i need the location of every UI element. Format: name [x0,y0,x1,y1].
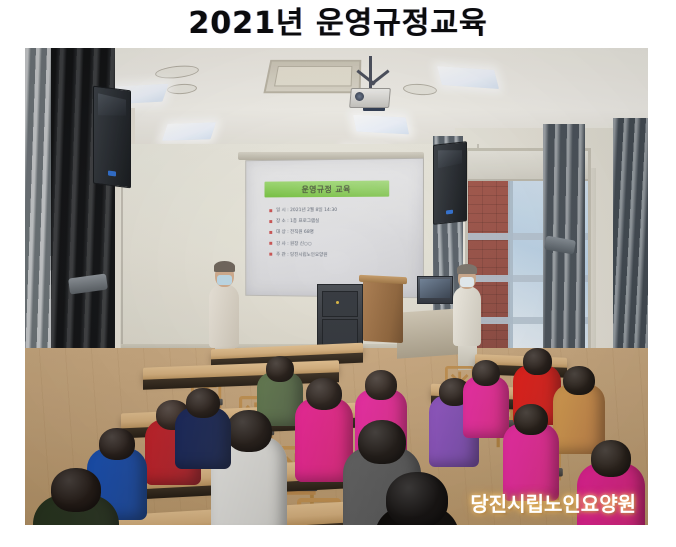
watermark-text: 당진시립노인요양원 [470,488,636,517]
av-rack-panel [322,319,358,345]
bullet-icon [269,231,272,234]
attendee-head [514,404,548,435]
presenter-hair [457,264,477,274]
title-bar: 2021년 운영규정교육 [0,6,676,42]
attendee-head [51,468,101,512]
attendee-head [306,378,342,410]
bullet-icon [269,242,272,245]
speaker-horn-icon [98,93,126,118]
attendee-head [563,366,595,395]
attendee-head [266,356,294,382]
slide-title-text: 운영규정 교육 [302,183,351,194]
poster-canvas: 2021년 운영규정교육 [0,0,676,547]
event-photo: 운영규정 교육 일 시 : 2021년 2월 8일 14:30 장 소 : 1층… [25,48,648,525]
bullet-icon [269,220,272,223]
speaker-led-icon [446,210,453,215]
attendee-6 [175,388,231,480]
air-conditioner-vent-inner [274,66,352,86]
av-status-led-icon [336,301,339,304]
attendee-head [358,420,406,464]
attendee-head [186,388,220,418]
bullet-icon [269,253,272,256]
ceiling-light [162,122,216,141]
wall-speaker-left [93,86,131,189]
computer-monitor [417,276,453,304]
curtain-right-middle [543,124,585,386]
speaker-horn-icon [438,148,462,169]
bullet-icon [269,209,272,212]
projector-lens-icon [355,92,364,101]
attendee-head [523,348,552,375]
slide-bullet-item: 대 상 : 전직원 68명 [269,229,410,235]
attendee-3 [33,468,119,525]
slide-bullet-text: 강 사 : 원장 신○○ [276,240,312,246]
attendee-head [386,472,448,525]
slide-bullet-item: 일 시 : 2021년 2월 8일 14:30 [269,207,410,214]
av-equipment-rack [317,284,363,352]
slide-title-bar: 운영규정 교육 [264,180,389,197]
slide-bullet-text: 대 상 : 전직원 68명 [276,229,314,235]
projector-rod [369,56,372,90]
attendee-head [591,440,631,477]
presenter-jacket [209,284,239,348]
curtain-left-sheer [25,48,51,368]
presenter-vest [453,286,481,346]
slide-bullet-text: 주 관 : 당진시립노인요양원 [276,251,327,257]
slide-bullet-text: 일 시 : 2021년 2월 8일 14:30 [276,207,337,213]
attendee-head [472,360,500,386]
av-rack-panel [322,291,358,317]
slide-bullet-list: 일 시 : 2021년 2월 8일 14:30 장 소 : 1층 프로그램실 대… [269,207,410,264]
face-mask-icon [460,277,474,287]
wall-speaker-right [433,141,467,225]
slide-bullet-item: 주 관 : 당진시립노인요양원 [269,251,410,258]
attendee-head [365,370,397,400]
monitor-screen [420,279,450,298]
attendee-head [226,410,272,452]
slide-bullet-text: 장 소 : 1층 프로그램실 [276,218,319,224]
page-title: 2021년 운영규정교육 [188,6,487,42]
air-conditioner-vent [263,60,361,93]
speaker-led-icon [108,171,116,177]
attendee-head [99,428,135,460]
wooden-podium [363,279,403,343]
slide-bullet-item: 장 소 : 1층 프로그램실 [269,218,410,224]
face-mask-icon [217,275,232,285]
ceiling-light [353,115,409,135]
presenter-hair [214,261,235,272]
window-mullion [508,179,513,351]
slide-bullet-item: 강 사 : 원장 신○○ [269,240,410,246]
attendee-16 [375,472,459,525]
